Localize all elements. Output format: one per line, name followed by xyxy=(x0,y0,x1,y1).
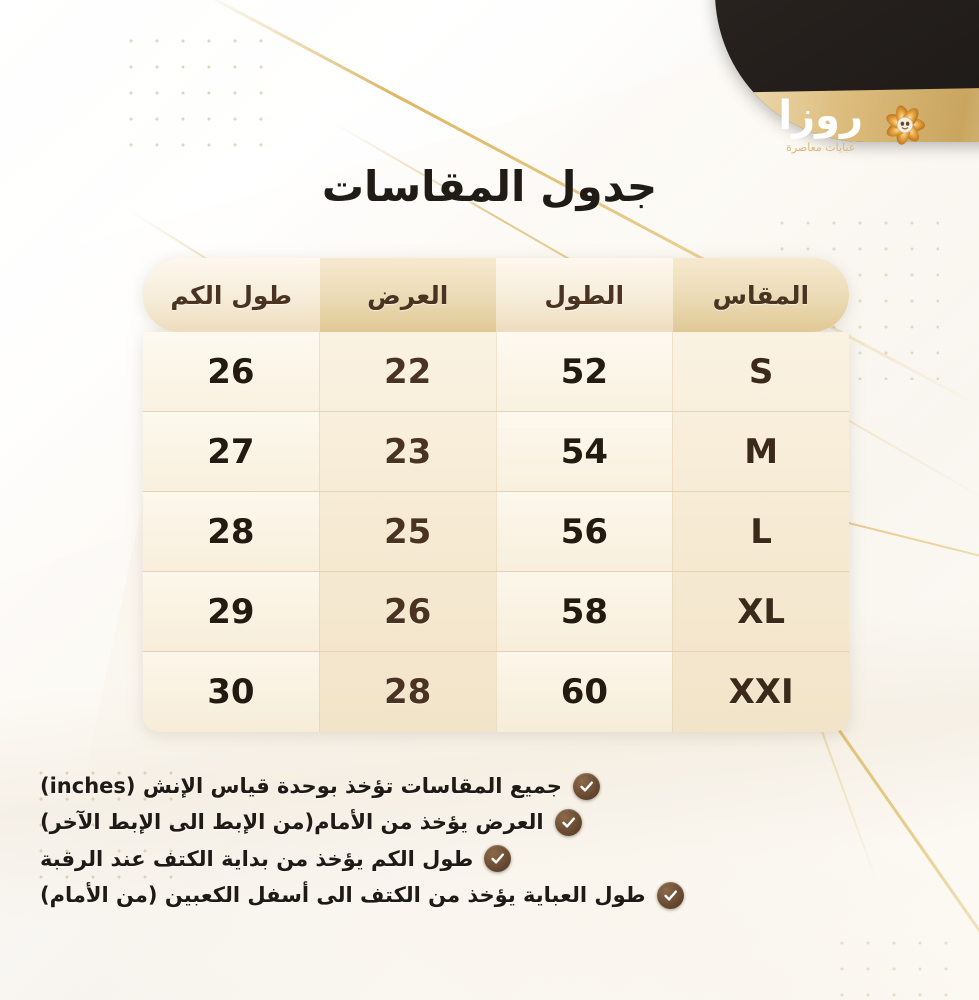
brand-wordmark: روزا عبايات معاصرة xyxy=(778,96,863,154)
column-header-width: العرض xyxy=(320,258,497,332)
cell-length: 60 xyxy=(496,652,673,732)
cell-size: L xyxy=(672,492,849,571)
page-title: جدول المقاسات xyxy=(0,162,979,211)
table-header-row: المقاس الطول العرض طول الكم xyxy=(143,258,849,332)
note-text: جميع المقاسات تؤخذ بوحدة قياس الإنش (inc… xyxy=(40,772,562,800)
check-badge-icon xyxy=(573,773,600,800)
cell-length: 56 xyxy=(496,492,673,571)
cell-width: 28 xyxy=(319,652,496,732)
column-header-sleeve: طول الكم xyxy=(143,258,320,332)
column-header-size: المقاس xyxy=(673,258,850,332)
cell-width: 23 xyxy=(319,412,496,491)
cell-sleeve: 28 xyxy=(143,492,319,571)
cell-sleeve: 29 xyxy=(143,572,319,651)
measurement-notes-list: جميع المقاسات تؤخذ بوحدة قياس الإنش (inc… xyxy=(0,772,979,909)
check-badge-icon xyxy=(484,845,511,872)
cell-sleeve: 26 xyxy=(143,332,319,411)
size-table: المقاس الطول العرض طول الكم S 52 22 26 M… xyxy=(143,258,849,732)
column-header-length: الطول xyxy=(496,258,673,332)
cell-size: XXI xyxy=(672,652,849,732)
cell-length: 54 xyxy=(496,412,673,491)
dot-grid-top-left xyxy=(118,28,278,148)
table-row: XL 58 26 29 xyxy=(143,572,849,652)
cell-size: M xyxy=(672,412,849,491)
brand-tagline: عبايات معاصرة xyxy=(786,141,855,154)
table-row: S 52 22 26 xyxy=(143,332,849,412)
brand-name: روزا xyxy=(778,96,863,136)
note-text: العرض يؤخذ من الأمام(من الإبط الى الإبط … xyxy=(40,808,544,836)
note-item: جميع المقاسات تؤخذ بوحدة قياس الإنش (inc… xyxy=(40,772,600,800)
note-text: طول العباية يؤخذ من الكتف الى أسفل الكعب… xyxy=(40,881,646,909)
cell-length: 58 xyxy=(496,572,673,651)
cell-sleeve: 27 xyxy=(143,412,319,491)
note-item: طول الكم يؤخذ من بداية الكتف عند الرقبة xyxy=(40,845,511,873)
note-item: العرض يؤخذ من الأمام(من الإبط الى الإبط … xyxy=(40,808,582,836)
cell-width: 22 xyxy=(319,332,496,411)
note-item: طول العباية يؤخذ من الكتف الى أسفل الكعب… xyxy=(40,881,684,909)
cell-width: 26 xyxy=(319,572,496,651)
cell-width: 25 xyxy=(319,492,496,571)
rose-swirl-icon xyxy=(877,97,933,153)
table-row: M 54 23 27 xyxy=(143,412,849,492)
cell-size: S xyxy=(672,332,849,411)
check-badge-icon xyxy=(555,809,582,836)
table-row: L 56 25 28 xyxy=(143,492,849,572)
size-chart-page: روزا عبايات معاصرة جدول المقاسات المقاس … xyxy=(0,0,979,1000)
cell-length: 52 xyxy=(496,332,673,411)
cell-sleeve: 30 xyxy=(143,652,319,732)
check-badge-icon xyxy=(657,882,684,909)
cell-size: XL xyxy=(672,572,849,651)
table-row: XXI 60 28 30 xyxy=(143,652,849,732)
dot-grid-bottom-right xyxy=(829,930,949,1000)
note-text: طول الكم يؤخذ من بداية الكتف عند الرقبة xyxy=(40,845,473,873)
table-body: S 52 22 26 M 54 23 27 L 56 25 28 XL 58 2… xyxy=(143,332,849,732)
brand-logo: روزا عبايات معاصرة xyxy=(778,96,933,154)
